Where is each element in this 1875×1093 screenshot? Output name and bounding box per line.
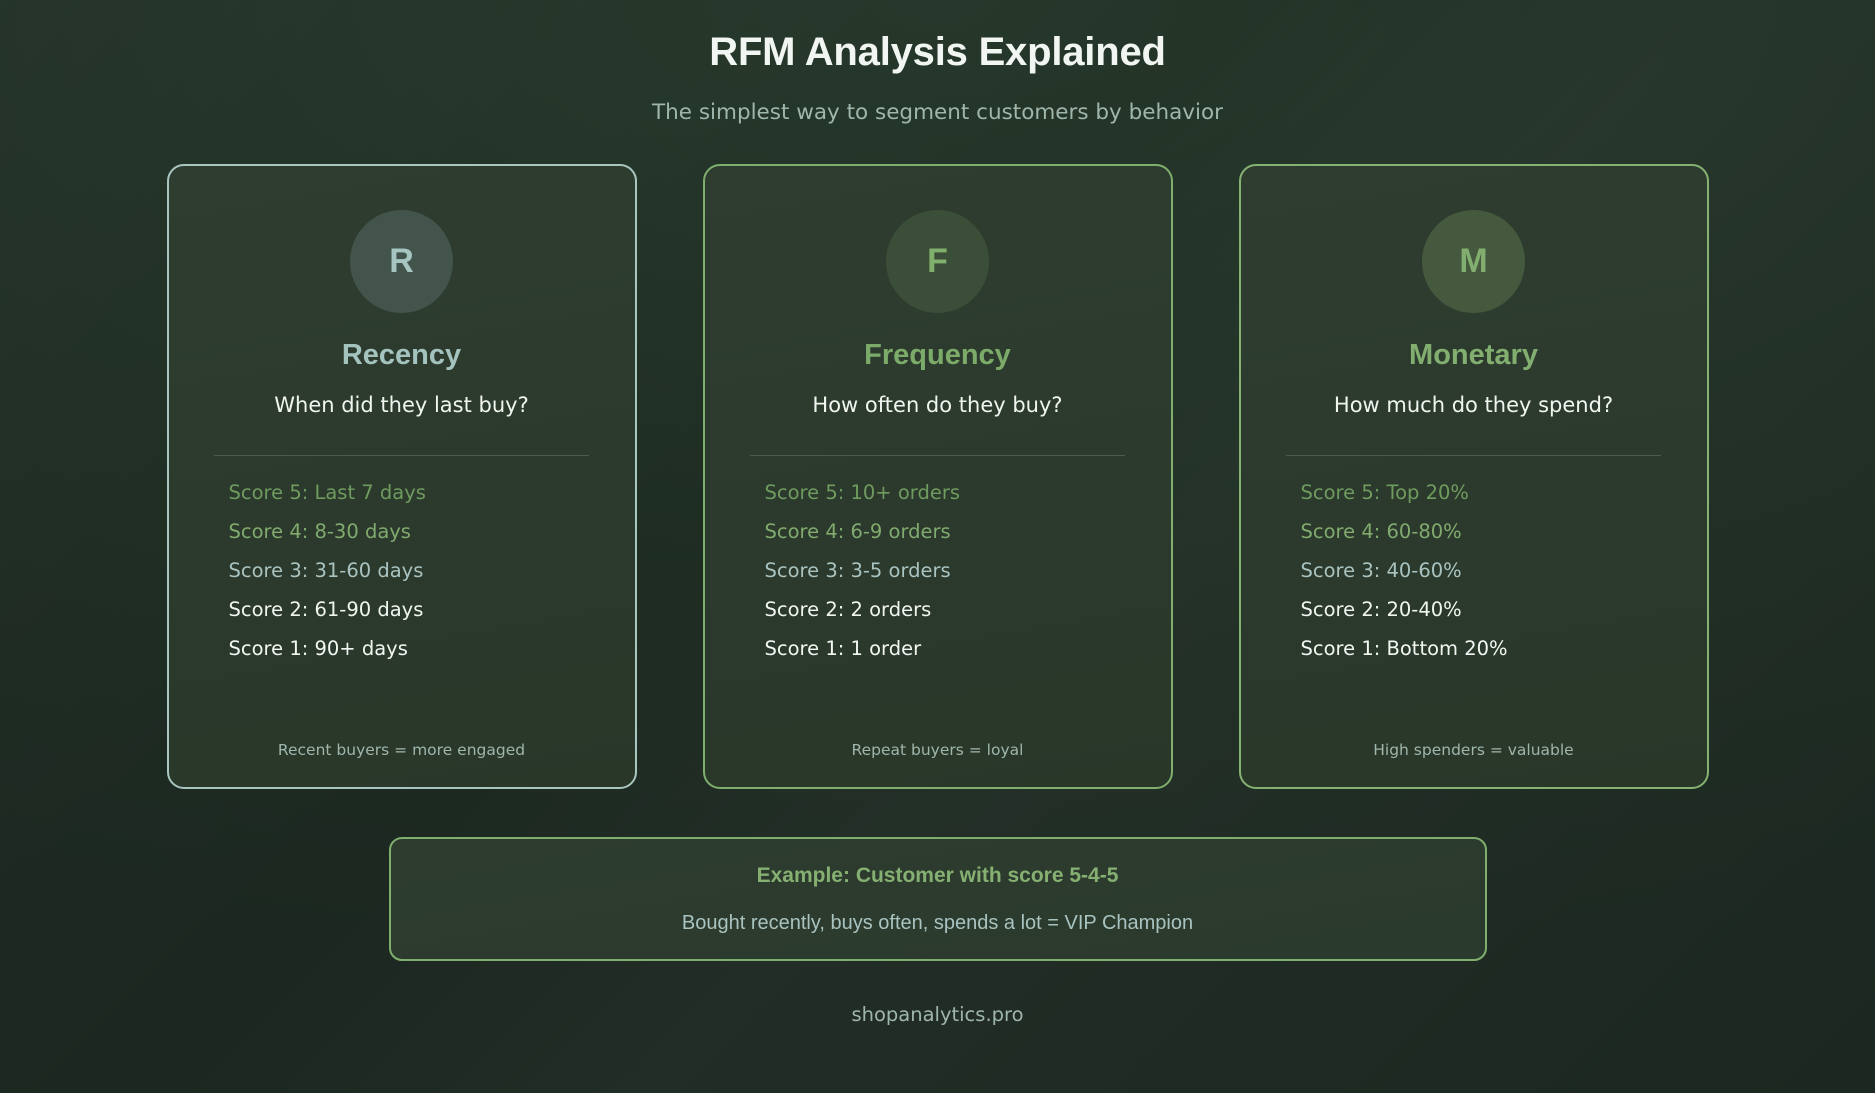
recency-title: Recency: [342, 339, 461, 372]
frequency-question: How often do they buy?: [812, 393, 1062, 417]
rfm-card-recency[interactable]: R Recency When did they last buy? Score …: [167, 164, 637, 789]
recency-note: Recent buyers = more engaged: [201, 741, 603, 759]
monetary-badge-letter: M: [1459, 242, 1487, 281]
recency-score-list: Score 5: Last 7 days Score 4: 8-30 days …: [201, 482, 603, 660]
score-item: Score 2: 2 orders: [765, 599, 1139, 621]
score-item: Score 5: Top 20%: [1301, 482, 1675, 504]
page-header: RFM Analysis Explained The simplest way …: [0, 0, 1875, 125]
page-subtitle: The simplest way to segment customers by…: [0, 100, 1875, 125]
frequency-badge-letter: F: [927, 242, 948, 281]
rfm-card-monetary[interactable]: M Monetary How much do they spend? Score…: [1239, 164, 1709, 789]
monetary-badge-icon: M: [1422, 210, 1525, 313]
example-title: Example: Customer with score 5-4-5: [757, 864, 1119, 888]
footer-domain[interactable]: shopanalytics.pro: [851, 1003, 1023, 1026]
score-item: Score 5: 10+ orders: [765, 482, 1139, 504]
recency-divider: [214, 455, 589, 456]
recency-badge-letter: R: [389, 242, 414, 281]
monetary-question: How much do they spend?: [1334, 393, 1613, 417]
infographic-page: RFM Analysis Explained The simplest way …: [0, 0, 1875, 1093]
rfm-card-row: R Recency When did they last buy? Score …: [0, 164, 1875, 789]
monetary-title: Monetary: [1409, 339, 1538, 372]
score-item: Score 1: 1 order: [765, 638, 1139, 660]
example-section: Example: Customer with score 5-4-5 Bough…: [0, 837, 1875, 961]
recency-badge-icon: R: [350, 210, 453, 313]
score-item: Score 3: 3-5 orders: [765, 560, 1139, 582]
score-item: Score 1: Bottom 20%: [1301, 638, 1675, 660]
score-item: Score 2: 20-40%: [1301, 599, 1675, 621]
monetary-score-list: Score 5: Top 20% Score 4: 60-80% Score 3…: [1273, 482, 1675, 660]
example-subtitle: Bought recently, buys often, spends a lo…: [682, 912, 1193, 935]
frequency-title: Frequency: [864, 339, 1011, 372]
score-item: Score 4: 8-30 days: [229, 521, 603, 543]
frequency-badge-icon: F: [886, 210, 989, 313]
score-item: Score 2: 61-90 days: [229, 599, 603, 621]
rfm-card-frequency[interactable]: F Frequency How often do they buy? Score…: [703, 164, 1173, 789]
monetary-note: High spenders = valuable: [1273, 741, 1675, 759]
page-title: RFM Analysis Explained: [0, 28, 1875, 76]
frequency-score-list: Score 5: 10+ orders Score 4: 6-9 orders …: [737, 482, 1139, 660]
score-item: Score 3: 40-60%: [1301, 560, 1675, 582]
example-box[interactable]: Example: Customer with score 5-4-5 Bough…: [389, 837, 1487, 961]
recency-question: When did they last buy?: [274, 393, 528, 417]
score-item: Score 1: 90+ days: [229, 638, 603, 660]
footer: shopanalytics.pro: [0, 1003, 1875, 1026]
score-item: Score 4: 60-80%: [1301, 521, 1675, 543]
frequency-divider: [750, 455, 1125, 456]
score-item: Score 5: Last 7 days: [229, 482, 603, 504]
monetary-divider: [1286, 455, 1661, 456]
score-item: Score 4: 6-9 orders: [765, 521, 1139, 543]
frequency-note: Repeat buyers = loyal: [737, 741, 1139, 759]
score-item: Score 3: 31-60 days: [229, 560, 603, 582]
